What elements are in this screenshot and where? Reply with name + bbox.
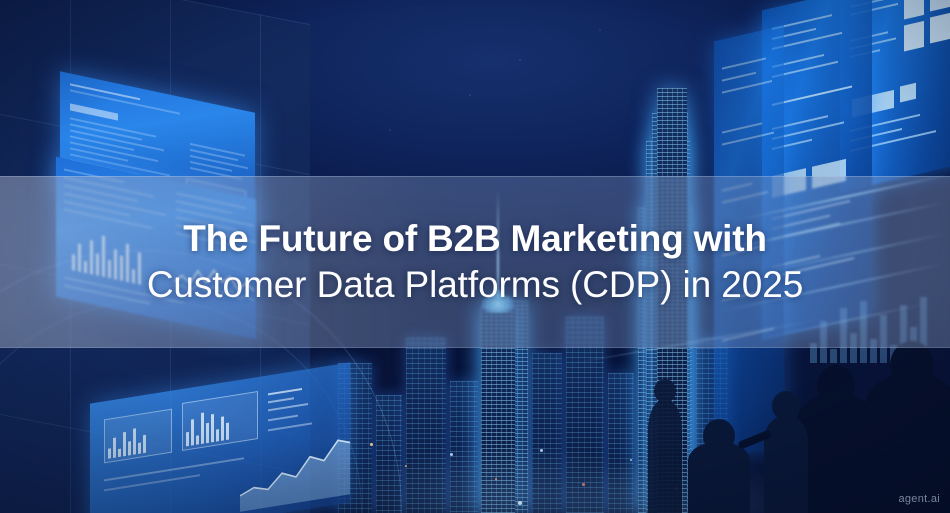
silhouette-figure-standing xyxy=(648,401,682,513)
watermark: agent.ai xyxy=(898,493,940,505)
silhouette-figure-center xyxy=(688,443,750,513)
title-line-1: The Future of B2B Marketing with xyxy=(183,217,767,261)
title-block: The Future of B2B Marketing with Custome… xyxy=(0,176,950,348)
silhouette-figure-pointing xyxy=(764,417,808,513)
silhouette-figure-right-2 xyxy=(796,395,876,513)
people-silhouettes xyxy=(620,333,950,513)
title-line-2: Customer Data Platforms (CDP) in 2025 xyxy=(147,263,803,307)
hero-banner: The Future of B2B Marketing with Custome… xyxy=(0,0,950,513)
